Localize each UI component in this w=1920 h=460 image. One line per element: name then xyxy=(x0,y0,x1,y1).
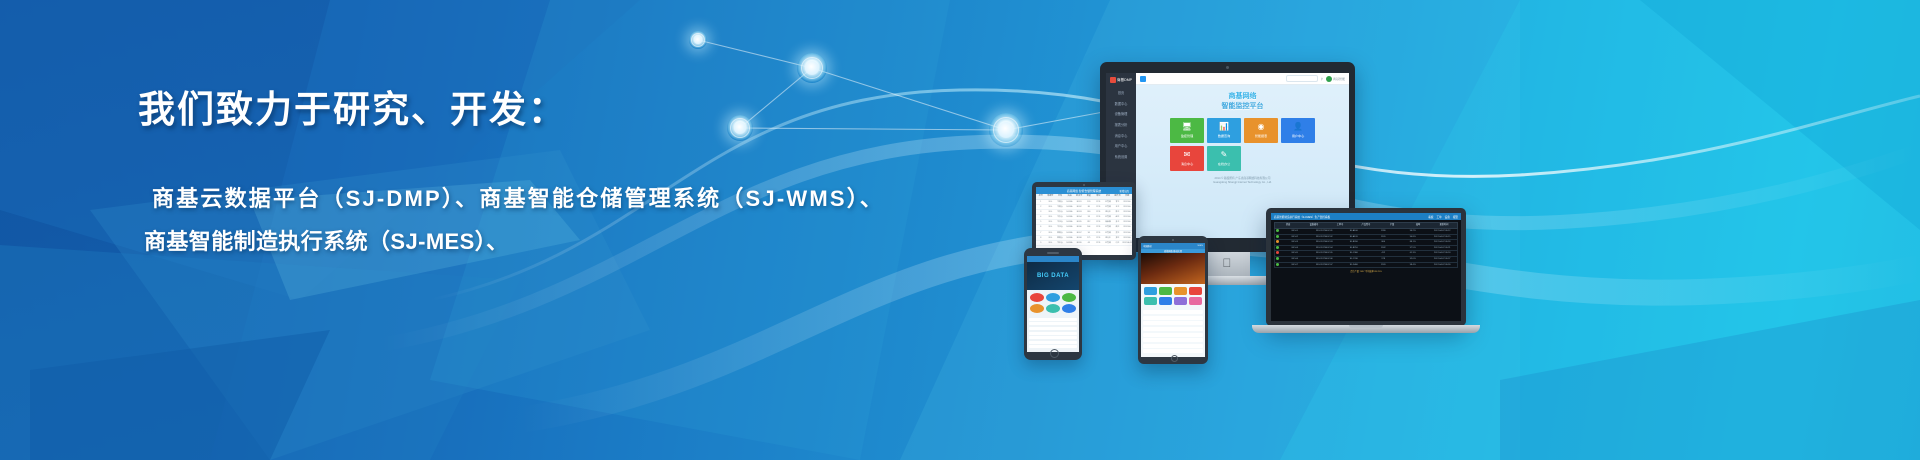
table-cell: SJ-DM-0007 xyxy=(1065,231,1075,235)
table-cell: 1 xyxy=(1036,200,1046,204)
table-cell: 周工 xyxy=(1113,225,1123,229)
list-item[interactable] xyxy=(1143,310,1203,314)
table-cell: 201-1D16A6302-0007 xyxy=(1046,231,1056,235)
tile-monitor[interactable]: 🖥 监控管理 xyxy=(1170,118,1204,143)
table-cell: 待审核 xyxy=(1103,220,1113,224)
table-cell: WO-20170407-04 xyxy=(1310,246,1340,251)
list-item[interactable] xyxy=(1029,336,1077,339)
table-cell: PCS xyxy=(1094,231,1104,235)
tile-label-5: 在线办公 xyxy=(1218,161,1230,166)
mes-table: 状态 设备编号 工单号 产品型号 产量 效率 更新时间 MC-01WO-2017… xyxy=(1271,220,1461,321)
product-line-2: 商基智能制造执行系统（SJ-MES）、 xyxy=(138,221,998,264)
tile-report[interactable]: ◉ 智能报表 xyxy=(1244,118,1278,143)
table-cell: 2017-04-07 xyxy=(1122,200,1132,204)
laptop-mockup: 商基智能制造执行系统（SJ-MES）生产监控看板 看板 工单 设备 报警 状态 … xyxy=(1266,208,1466,340)
table-cell: 201-1D16A6302-0004 xyxy=(1046,215,1056,219)
wms-col-9: 日期 xyxy=(1122,194,1132,199)
table-cell: BC07 xyxy=(1074,231,1084,235)
table-cell: PCS xyxy=(1094,200,1104,204)
tablet-app-icon-7[interactable] xyxy=(1189,297,1202,305)
table-cell: 西南仓 xyxy=(1055,231,1065,235)
user-icon: 👤 xyxy=(1293,123,1303,131)
table-cell: 2017-04-07 09:30 xyxy=(1428,263,1458,268)
battery-label: 100% xyxy=(1197,245,1203,247)
table-cell: 2017-04-10 xyxy=(1122,236,1132,240)
tablet-app-icon-4[interactable] xyxy=(1144,297,1157,305)
table-cell: WO-20170407-07 xyxy=(1310,263,1340,268)
table-cell: SJ-DM-0008 xyxy=(1065,236,1075,240)
list-item[interactable] xyxy=(1029,341,1077,344)
table-cell: 201-1D16A6302-0003 xyxy=(1046,210,1056,214)
table-cell: SJ-DM-0002 xyxy=(1065,205,1075,209)
dmp-footer: 2014 © 版权所有 广东省商基网络科技有限公司 Guangdong Shan… xyxy=(1213,177,1272,185)
table-cell: SJ-A120 xyxy=(1339,235,1369,240)
wms-col-7: 状态 xyxy=(1103,194,1113,199)
mes-footer: 合计产量 7497 平均效率 89.76% xyxy=(1274,268,1458,273)
dmp-logo: 商基DMP xyxy=(1110,77,1132,83)
table-cell: SJ-DM-0004 xyxy=(1065,215,1075,219)
monitor-icon: 🖥 xyxy=(1182,123,1192,131)
mes-col-4: 产量 xyxy=(1379,223,1405,228)
footer-en: Guangdong Shangji Internet Technology Co… xyxy=(1213,181,1272,185)
mes-col-1: 设备编号 xyxy=(1301,223,1327,228)
table-cell: 2017-04-07 09:24 xyxy=(1428,251,1458,256)
table-cell: SJ-DM-0005 xyxy=(1065,220,1075,224)
device-mockup-group: 商基DMP 首页 数据中心 设备管理 报表分析 消息中心 用户中心 系统设置 xyxy=(1010,40,1530,370)
tab-0[interactable]: 看板 xyxy=(1428,215,1433,219)
wms-col-4: 批次号 xyxy=(1074,194,1084,199)
list-item[interactable] xyxy=(1143,338,1203,342)
table-cell: MC-03 xyxy=(1280,240,1310,245)
phone-speaker-icon xyxy=(1047,252,1059,254)
table-cell: BC03 xyxy=(1074,210,1084,214)
table-cell: 吴工 xyxy=(1113,231,1123,235)
table-row[interactable]: 9201-1D16A6302-0009华中仓SJ-DM-0009BC0963PC… xyxy=(1036,241,1132,246)
dmp-brand-label: 商基DMP xyxy=(1117,78,1132,83)
table-cell: 已完成 xyxy=(1103,215,1113,219)
table-cell: 2017-04-08 xyxy=(1122,210,1132,214)
account-label: 商基智能 xyxy=(1333,77,1345,81)
table-cell: 赵工 xyxy=(1113,215,1123,219)
table-cell: 96 xyxy=(1084,231,1094,235)
wms-col-1: 单据号 xyxy=(1046,194,1056,199)
tablet-portrait-screen: 中国移动 100% 商基网络 移动应用 xyxy=(1141,243,1205,357)
mes-col-3: 产品型号 xyxy=(1353,223,1379,228)
tablet-portrait-mockup: 中国移动 100% 商基网络 移动应用 xyxy=(1138,236,1208,364)
edit-icon: ✎ xyxy=(1221,151,1228,159)
table-cell: 92.0% xyxy=(1398,257,1428,262)
table-cell: 华北仓 xyxy=(1055,220,1065,224)
table-cell: 201-1D16A6302-0005 xyxy=(1046,220,1056,224)
phone-app-icon-5[interactable] xyxy=(1062,304,1076,313)
mes-topbar: 商基智能制造执行系统（SJ-MES）生产监控看板 看板 工单 设备 报警 xyxy=(1271,213,1461,220)
table-cell: 华南仓 xyxy=(1055,205,1065,209)
phone-mockup: BIG DATA xyxy=(1024,248,1082,360)
mes-col-6: 更新时间 xyxy=(1431,223,1457,228)
table-cell: 李工 xyxy=(1113,200,1123,204)
sidebar-item-2[interactable]: 设备管理 xyxy=(1106,110,1136,118)
imac-camera-icon xyxy=(1226,66,1229,69)
list-item[interactable] xyxy=(1029,318,1077,321)
table-cell: 97.5% xyxy=(1398,246,1428,251)
table-cell: 进行中 xyxy=(1103,210,1113,214)
table-cell: PCS xyxy=(1094,236,1104,240)
table-cell: 西南仓 xyxy=(1055,236,1065,240)
bar-chart-icon: 📊 xyxy=(1219,123,1229,131)
mes-col-2: 工单号 xyxy=(1327,223,1353,228)
table-cell: WO-20170407-05 xyxy=(1310,251,1340,256)
table-cell: 201-1D16A6302-0009 xyxy=(1046,241,1056,245)
table-cell: BC01 xyxy=(1074,200,1084,204)
table-cell: SJ-D400 xyxy=(1339,263,1369,268)
tablet-app-icon-6[interactable] xyxy=(1174,297,1187,305)
tablet-app-icon-2[interactable] xyxy=(1174,287,1187,295)
laptop-lid: 商基智能制造执行系统（SJ-MES）生产监控看板 看板 工单 设备 报警 状态 … xyxy=(1266,208,1466,326)
table-cell: PCS xyxy=(1094,215,1104,219)
table-cell: 58 xyxy=(1084,215,1094,219)
phone-app-icon-4[interactable] xyxy=(1046,304,1060,313)
wms-titlebar: 商基网络 智能仓储管理系统 新增出库 xyxy=(1036,187,1132,194)
table-cell: WO-20170407-06 xyxy=(1310,257,1340,262)
tablet-portrait-camera-icon xyxy=(1172,239,1174,241)
table-cell: MC-06 xyxy=(1280,257,1310,262)
table-cell: 王工 xyxy=(1113,205,1123,209)
table-cell: MC-07 xyxy=(1280,263,1310,268)
table-cell: 2 xyxy=(1036,205,1046,209)
table-cell: 120 xyxy=(1084,200,1094,204)
wms-col-6: 单位 xyxy=(1094,194,1104,199)
table-cell: WO-20170407-03 xyxy=(1310,240,1340,245)
sidebar-item-5[interactable]: 用户中心 xyxy=(1106,142,1136,150)
list-item[interactable] xyxy=(1143,321,1203,325)
mes-tabs: 看板 工单 设备 报警 xyxy=(1428,215,1458,219)
table-cell: 已完成 xyxy=(1103,241,1113,245)
table-cell: SJ-C310 xyxy=(1339,257,1369,262)
tile-label-0: 监控管理 xyxy=(1181,133,1193,138)
envelope-icon: ✉ xyxy=(1184,151,1191,159)
list-item[interactable] xyxy=(1143,333,1203,337)
wms-col-0: 序号 xyxy=(1036,194,1046,199)
wms-col-5: 数量 xyxy=(1084,194,1094,199)
table-cell: PCS xyxy=(1094,220,1104,224)
table-cell: BC05 xyxy=(1074,220,1084,224)
tablet-camera-icon xyxy=(1083,184,1085,186)
table-cell: 华中仓 xyxy=(1055,241,1065,245)
table-cell: 144 xyxy=(1084,225,1094,229)
tile-label-2: 智能报表 xyxy=(1255,133,1267,138)
tile-label-3: 用户中心 xyxy=(1292,133,1304,138)
tile-label-4: 消息中心 xyxy=(1181,161,1193,166)
table-cell: 华东仓 xyxy=(1055,215,1065,219)
table-cell: 2017-04-07 09:18 xyxy=(1428,240,1458,245)
table-cell: SJ-DM-0003 xyxy=(1065,210,1075,214)
table-cell: 华北仓 xyxy=(1055,225,1065,229)
table-cell: MC-05 xyxy=(1280,251,1310,256)
table-cell: PCS xyxy=(1094,205,1104,209)
mes-col-0: 状态 xyxy=(1275,223,1301,228)
search-input[interactable] xyxy=(1286,75,1318,82)
table-cell: 978 xyxy=(1369,257,1399,262)
table-cell: 2017-04-07 09:12 xyxy=(1428,229,1458,234)
table-cell: 1105 xyxy=(1369,235,1399,240)
wms-title: 商基网络 智能仓储管理系统 xyxy=(1067,189,1101,193)
table-cell: BC02 xyxy=(1074,205,1084,209)
table-cell: 2017-04-07 xyxy=(1122,205,1132,209)
table-cell: 201-1D16A6302-0008 xyxy=(1046,236,1056,240)
list-item[interactable] xyxy=(1029,332,1077,335)
table-cell: BC09 xyxy=(1074,241,1084,245)
bg-facet-10 xyxy=(1500,300,1920,460)
wms-col-3: 货品 xyxy=(1065,194,1075,199)
product-list: 商基云数据平台（SJ-DMP）、商基智能仓储管理系统（SJ-WMS）、 商基智能… xyxy=(138,178,998,264)
product-line-1: 商基云数据平台（SJ-DMP）、商基智能仓储管理系统（SJ-WMS）、 xyxy=(138,178,998,221)
phone-app-icon-3[interactable] xyxy=(1030,304,1044,313)
table-cell: 860 xyxy=(1369,240,1399,245)
wms-screen: 商基网络 智能仓储管理系统 新增出库 序号 单据号 仓库 货品 批次号 数量 单… xyxy=(1036,187,1132,255)
menu-toggle-icon[interactable] xyxy=(1140,76,1146,82)
mes-title: 商基智能制造执行系统（SJ-MES）生产监控看板 xyxy=(1274,215,1330,219)
table-cell: 2017-04-09 xyxy=(1122,220,1132,224)
table-cell: BC04 xyxy=(1074,215,1084,219)
table-cell: 412 xyxy=(1369,251,1399,256)
logo-mark-icon xyxy=(1110,77,1116,83)
table-cell: 201-1D16A6302-0001 xyxy=(1046,200,1056,204)
phone-app-icon-0[interactable] xyxy=(1030,293,1044,302)
list-item[interactable] xyxy=(1029,322,1077,325)
dmp-topbar: ⚲ 商基智能 xyxy=(1136,73,1349,85)
tablet-app-icon-0[interactable] xyxy=(1144,287,1157,295)
tablet-icon-grid xyxy=(1141,284,1205,308)
phone-screen: BIG DATA xyxy=(1027,256,1079,352)
wms-table-body: 1201-1D16A6302-0001华南仓SJ-DM-0001BC01120P… xyxy=(1036,200,1132,246)
table-cell: BC06 xyxy=(1074,225,1084,229)
phone-app-icon-1[interactable] xyxy=(1046,293,1060,302)
table-cell: PCS xyxy=(1094,241,1104,245)
table-cell: 94.8% xyxy=(1398,235,1428,240)
table-cell: 已完成 xyxy=(1103,205,1113,209)
table-cell: 冯工 xyxy=(1113,241,1123,245)
table-cell: 已完成 xyxy=(1103,200,1113,204)
sidebar-item-6[interactable]: 系统设置 xyxy=(1106,153,1136,161)
network-node-2 xyxy=(797,53,827,83)
dmp-title: 商基网络 xyxy=(1229,92,1257,101)
carrier-label: 中国移动 xyxy=(1143,244,1152,248)
table-cell: WO-20170407-02 xyxy=(1310,235,1340,240)
table-cell: 5 xyxy=(1036,220,1046,224)
table-cell: 2017-04-07 09:15 xyxy=(1428,235,1458,240)
table-cell: SJ-DM-0001 xyxy=(1065,200,1075,204)
table-cell: SJ-A100 xyxy=(1339,229,1369,234)
table-cell: SJ-B200 xyxy=(1339,240,1369,245)
table-cell: PCS xyxy=(1094,225,1104,229)
list-item[interactable] xyxy=(1029,345,1077,348)
table-cell: 1280 xyxy=(1369,229,1399,234)
tile-user-center[interactable]: 👤 用户中心 xyxy=(1281,118,1315,143)
phone-hero: BIG DATA xyxy=(1027,262,1079,290)
network-node-1 xyxy=(689,31,707,49)
list-item[interactable] xyxy=(1143,327,1203,331)
sidebar-item-1[interactable]: 数据中心 xyxy=(1106,100,1136,108)
tile-label-1: 数据查询 xyxy=(1218,133,1230,138)
wms-action-button[interactable]: 新增出库 xyxy=(1119,189,1129,193)
table-cell: 6 xyxy=(1036,225,1046,229)
table-cell: 2017-04-07 09:27 xyxy=(1428,257,1458,262)
table-cell: 61.3% xyxy=(1398,251,1428,256)
table-cell: 陈工 xyxy=(1113,210,1123,214)
table-cell: 8 xyxy=(1036,236,1046,240)
tile-online-office[interactable]: ✎ 在线办公 xyxy=(1207,146,1241,171)
list-item[interactable] xyxy=(1143,344,1203,348)
table-cell: 201-1D16A6302-0002 xyxy=(1046,205,1056,209)
table-cell: 88.1% xyxy=(1398,240,1428,245)
tab-1[interactable]: 工单 xyxy=(1436,215,1441,219)
table-cell: SJ-C300 xyxy=(1339,251,1369,256)
table-cell: 96.2% xyxy=(1398,229,1428,234)
dmp-tile-grid: 🖥 监控管理 📊 数据查询 ◉ 智能报表 xyxy=(1170,118,1315,171)
tile-data-query[interactable]: 📊 数据查询 xyxy=(1207,118,1241,143)
phone-home-button[interactable] xyxy=(1050,349,1059,358)
table-cell: PCS xyxy=(1094,210,1104,214)
mes-screen: 商基智能制造执行系统（SJ-MES）生产监控看板 看板 工单 设备 报警 状态 … xyxy=(1271,213,1461,321)
wms-col-8: 操作员 xyxy=(1113,194,1123,199)
pie-chart-icon: ◉ xyxy=(1258,123,1265,131)
table-cell: 2017-04-07 09:21 xyxy=(1428,246,1458,251)
table-cell: 312 xyxy=(1084,220,1094,224)
page-title: 我们致力于研究、开发： xyxy=(138,88,998,132)
tablet-app-icon-3[interactable] xyxy=(1189,287,1202,295)
table-cell: 240 xyxy=(1084,210,1094,214)
table-cell: 9 xyxy=(1036,241,1046,245)
topbar-right: ⚲ 商基智能 xyxy=(1286,75,1345,82)
banner-copy: 我们致力于研究、开发： 商基云数据平台（SJ-DMP）、商基智能仓储管理系统（S… xyxy=(138,88,998,264)
table-cell: 3 xyxy=(1036,210,1046,214)
table-cell: 86 xyxy=(1084,205,1094,209)
bg-facet-4 xyxy=(0,245,520,460)
tablet-home-button[interactable] xyxy=(1171,355,1178,362)
table-cell: BC08 xyxy=(1074,236,1084,240)
table-cell: 175 xyxy=(1084,236,1094,240)
tab-2[interactable]: 设备 xyxy=(1445,215,1450,219)
table-cell: MC-01 xyxy=(1280,229,1310,234)
mes-table-header: 状态 设备编号 工单号 产品型号 产量 效率 更新时间 xyxy=(1274,222,1458,229)
table-cell: 1520 xyxy=(1369,263,1399,268)
list-item[interactable] xyxy=(1143,349,1203,353)
table-cell: SJ-DM-0009 xyxy=(1065,241,1075,245)
table-cell: WO-20170407-01 xyxy=(1310,229,1340,234)
table-cell: 2017-04-11 xyxy=(1122,241,1132,245)
table-cell: SJ-DM-0006 xyxy=(1065,225,1075,229)
table-cell: 63 xyxy=(1084,241,1094,245)
table-cell: 201-1D16A6302-0006 xyxy=(1046,225,1056,229)
table-cell: 华东仓 xyxy=(1055,210,1065,214)
table-cell: 已完成 xyxy=(1103,231,1113,235)
avatar xyxy=(1326,76,1332,82)
table-cell: 已完成 xyxy=(1103,225,1113,229)
tablet-hero-image xyxy=(1141,253,1205,284)
table-cell: 进行中 xyxy=(1103,236,1113,240)
table-cell: 2017-04-10 xyxy=(1122,231,1132,235)
sidebar-item-0[interactable]: 首页 xyxy=(1106,89,1136,97)
apple-logo-icon:  xyxy=(1223,256,1232,270)
sidebar-item-4[interactable]: 消息中心 xyxy=(1106,131,1136,139)
phone-app-icon-2[interactable] xyxy=(1062,293,1076,302)
tablet-app-icon-1[interactable] xyxy=(1159,287,1172,295)
sidebar-item-3[interactable]: 报表分析 xyxy=(1106,121,1136,129)
table-cell: 孙工 xyxy=(1113,220,1123,224)
table-cell: MC-02 xyxy=(1280,235,1310,240)
mes-table-body: MC-01WO-20170407-01SJ-A100128096.2%2017-… xyxy=(1274,229,1458,268)
tablet-list xyxy=(1141,308,1205,357)
tab-3[interactable]: 报警 xyxy=(1453,215,1458,219)
search-icon[interactable]: ⚲ xyxy=(1321,77,1323,81)
table-cell: 7 xyxy=(1036,231,1046,235)
dmp-subtitle: 智能监控平台 xyxy=(1222,101,1264,111)
bg-facet-9 xyxy=(1640,0,1920,230)
wms-col-2: 仓库 xyxy=(1055,194,1065,199)
table-cell: 2017-04-08 xyxy=(1122,215,1132,219)
mes-col-5: 效率 xyxy=(1405,223,1431,228)
hero-banner: 我们致力于研究、开发： 商基云数据平台（SJ-DMP）、商基智能仓储管理系统（S… xyxy=(0,0,1920,460)
phone-list xyxy=(1027,316,1079,352)
table-cell: 华南仓 xyxy=(1055,200,1065,204)
table-cell: MC-04 xyxy=(1280,246,1310,251)
list-item[interactable] xyxy=(1143,316,1203,320)
laptop-notch xyxy=(1349,325,1383,328)
list-item[interactable] xyxy=(1029,327,1077,330)
table-cell: 4 xyxy=(1036,215,1046,219)
table-cell: SJ-B210 xyxy=(1339,246,1369,251)
table-cell: 郑工 xyxy=(1113,236,1123,240)
bg-facet-11 xyxy=(30,330,330,460)
account-badge[interactable]: 商基智能 xyxy=(1326,76,1345,82)
tile-message-center[interactable]: ✉ 消息中心 xyxy=(1170,146,1204,171)
tablet-app-icon-5[interactable] xyxy=(1159,297,1172,305)
phone-icon-grid xyxy=(1027,290,1079,316)
table-cell: 2017-04-09 xyxy=(1122,225,1132,229)
table-cell: 98.4% xyxy=(1398,263,1428,268)
table-cell: 1342 xyxy=(1369,246,1399,251)
